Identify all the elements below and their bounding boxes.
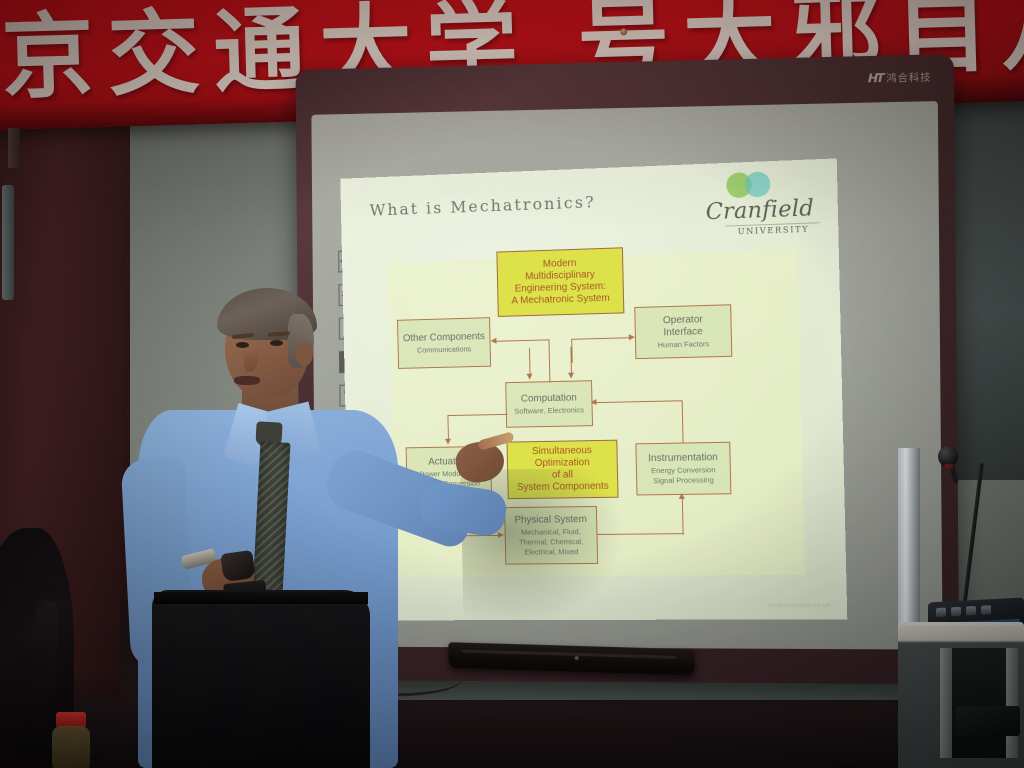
whiteboard-oem-logo: HT 鸿合科技 — [868, 69, 932, 86]
edge-phys-to-instr-v — [682, 499, 684, 535]
node-instrumentation-subtitle2: Signal Processing — [653, 475, 714, 485]
node-physical-subtitle3: Electrical, Mixed — [524, 547, 578, 557]
edge-instr-to-comp-h — [592, 400, 682, 403]
node-simopt-line1: Simultaneous — [532, 445, 592, 458]
microphone-indicator-ring — [944, 464, 953, 468]
banner-support-pole — [8, 128, 20, 168]
presenter-belt — [154, 592, 368, 604]
rack-mounted-device — [956, 706, 1020, 736]
equipment-rack-rail-left — [940, 648, 952, 758]
pen-tray-indicator — [575, 656, 579, 660]
slide-footer-url: www.cranfield.ac.uk — [768, 603, 831, 609]
lecture-room-photo: 京交通大学 号大邪自八十 HT 鸿合科技 HiteVision — [0, 0, 1024, 768]
oem-logo-text: 鸿合科技 — [886, 69, 931, 85]
cranfield-wordmark: Cranfield — [698, 198, 821, 225]
oem-logo-mark: HT — [866, 70, 883, 85]
presentation-clicker[interactable] — [220, 550, 256, 582]
presenter-eye-left — [236, 342, 249, 348]
node-physical-system: Physical System Mechanical, Fluid, Therm… — [504, 506, 598, 565]
console-button-4[interactable] — [981, 605, 991, 615]
node-operator-title: Operator — [663, 314, 703, 327]
presenter-mouth — [234, 376, 260, 385]
presenter-ear — [296, 342, 313, 366]
node-instrumentation-subtitle: Energy Conversion — [651, 465, 716, 475]
wall-rod — [2, 185, 14, 300]
node-operator-interface: Operator Interface Human Factors — [634, 304, 732, 359]
edge-into-computation-left — [529, 348, 531, 376]
node-modern-line4: A Mechatronic System — [511, 293, 610, 308]
water-bottle — [50, 712, 92, 768]
cranfield-logo-dots — [698, 165, 821, 202]
edge-phys-to-instr-h — [597, 533, 683, 535]
logo-circle-teal — [744, 171, 770, 197]
edge-to-other-v — [548, 339, 550, 363]
bottle-body — [52, 726, 90, 768]
node-physical-title: Physical System — [514, 514, 587, 527]
edge-to-operator-h — [571, 337, 633, 340]
edge-comp-to-act-h — [447, 414, 507, 416]
console-button-3[interactable] — [966, 606, 976, 616]
node-operator-subtitle: Human Factors — [657, 339, 709, 350]
edge-modern-down-left — [549, 361, 551, 383]
slide-title: What is Mechatronics? — [369, 192, 596, 219]
presenter-eye-right — [270, 340, 283, 346]
node-computation-title: Computation — [521, 392, 577, 405]
node-physical-subtitle: Mechanical, Fluid, — [521, 527, 581, 537]
console-button-row[interactable] — [936, 605, 991, 617]
node-simopt-line2: Optimization — [535, 457, 590, 470]
arrowhead-into-physical — [498, 532, 504, 538]
console-button-1[interactable] — [936, 608, 946, 618]
node-simopt-line3: of all — [552, 469, 573, 481]
node-physical-subtitle2: Thermal, Chemical, — [519, 537, 583, 547]
edge-to-other-h — [496, 339, 549, 342]
node-computation: Computation Software, Electronics — [505, 380, 593, 428]
presenter-trousers — [152, 590, 370, 768]
cranfield-logo: Cranfield UNIVERSITY — [698, 165, 822, 237]
node-simopt-line4: System Components — [517, 481, 609, 494]
node-instrumentation-title: Instrumentation — [648, 452, 718, 465]
equipment-rack-rail-right — [1006, 648, 1018, 758]
equipment-rack-interior — [952, 648, 1006, 758]
rack-support-column — [898, 448, 920, 638]
node-modern-mechatronic-system: Modern Multidisciplinary Engineering Sys… — [496, 247, 624, 317]
bottle-cap — [56, 712, 86, 727]
node-computation-subtitle: Software, Electronics — [514, 405, 584, 416]
edge-instr-to-comp-v — [682, 400, 684, 442]
node-modern-line1: Modern — [543, 257, 577, 270]
node-simultaneous-optimization: Simultaneous Optimization of all System … — [507, 440, 619, 499]
presenter — [120, 290, 450, 768]
arrowhead-to-other — [490, 338, 496, 344]
console-button-2[interactable] — [951, 607, 961, 617]
node-operator-title2: Interface — [663, 326, 703, 339]
node-instrumentation: Instrumentation Energy Conversion Signal… — [635, 442, 731, 496]
